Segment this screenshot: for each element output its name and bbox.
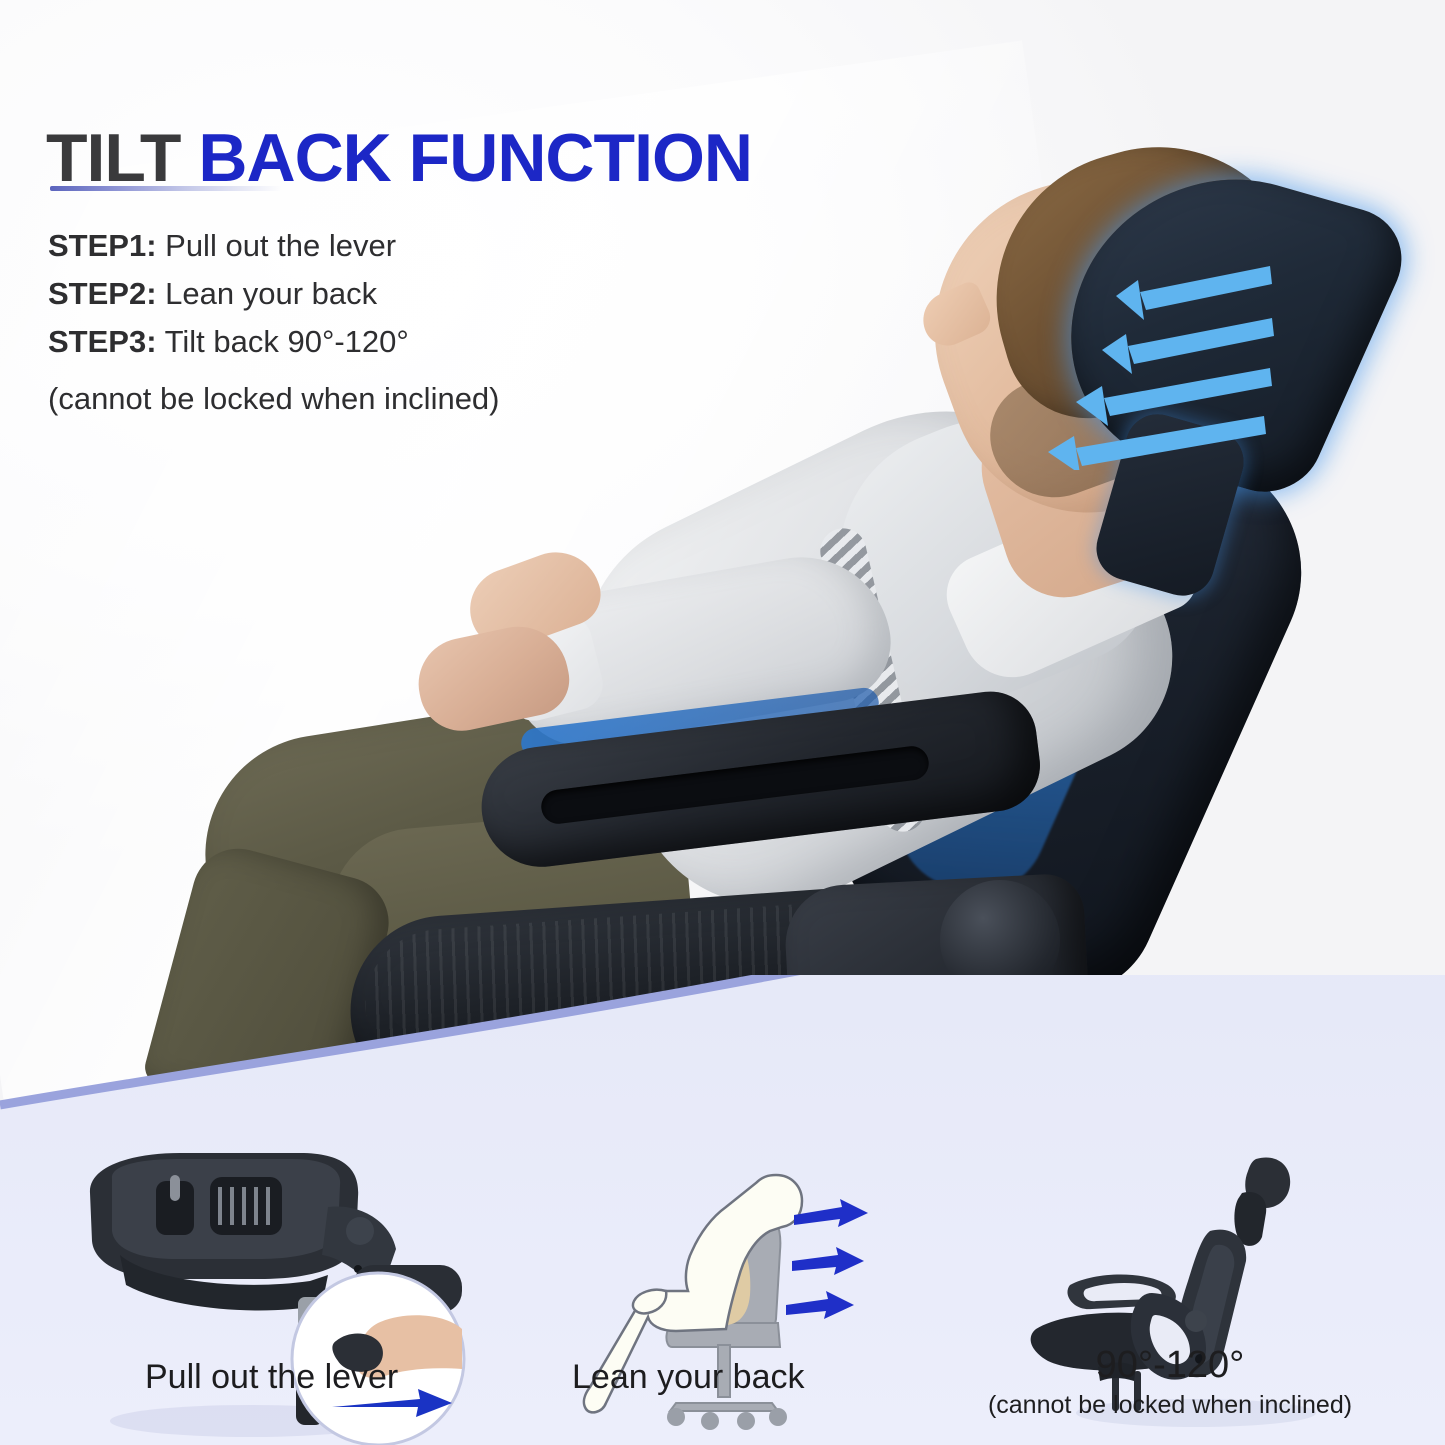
infographic-page: Tilt Tension (0, 0, 1445, 1445)
step-item-3: STEP3: Tilt back 90°-120° (48, 318, 728, 366)
steps-list: STEP1: Pull out the lever STEP2: Lean yo… (48, 222, 728, 423)
caption-recline-degrees: 90°-120° (1096, 1344, 1245, 1386)
steps-note: (cannot be locked when inclined) (48, 375, 728, 423)
chair-underside-lever-icon (60, 1145, 480, 1445)
thumbnail-pull-lever (60, 1145, 480, 1445)
step-label-3: STEP3: (48, 324, 157, 359)
caption-recline-range: 90°-120° (cannot be locked when inclined… (985, 1344, 1355, 1420)
blue-back-pressure-arrows-icon (786, 1199, 868, 1319)
title-word-tilt: TILT (46, 120, 198, 196)
step-text-3: Tilt back 90°-120° (157, 324, 409, 359)
person-leaning-back-icon (580, 1145, 900, 1445)
step-item-2: STEP2: Lean your back (48, 270, 728, 318)
caption-pull-lever: Pull out the lever (145, 1358, 398, 1397)
caption-lean-back: Lean your back (572, 1358, 805, 1397)
caption-recline-note: (cannot be locked when inclined) (985, 1391, 1355, 1420)
step-text-1: Pull out the lever (157, 228, 397, 263)
title-underline (50, 186, 282, 191)
step-label-2: STEP2: (48, 276, 157, 311)
step-label-1: STEP1: (48, 228, 157, 263)
neck-support-arrows-icon (1020, 240, 1280, 470)
page-title: TILT BACK FUNCTION (46, 124, 752, 192)
step-text-2: Lean your back (157, 276, 378, 311)
thumbnail-lean-back (580, 1145, 900, 1445)
title-word-back-function: BACK FUNCTION (198, 120, 752, 196)
step-item-1: STEP1: Pull out the lever (48, 222, 728, 270)
